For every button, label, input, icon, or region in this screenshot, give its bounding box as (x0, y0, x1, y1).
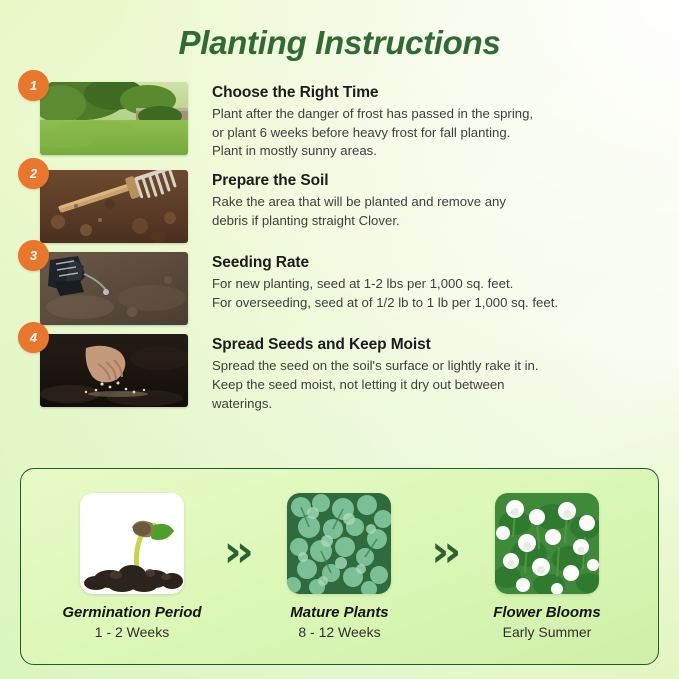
step-2-body: Rake the area that will be planted and r… (212, 193, 506, 230)
page-title: Planting Instructions (0, 24, 679, 62)
step-3-body: For new planting, seed at 1-2 lbs per 1,… (212, 275, 558, 312)
step-2-thumb-wrap: 2 (40, 170, 188, 243)
step-1-line-2: or plant 6 weeks before heavy frost for … (212, 124, 533, 143)
timeline-stage-blooms: Flower Blooms Early Summer (462, 493, 632, 640)
step-4-line-2: Keep the seed moist, not letting it dry … (212, 376, 539, 395)
step-item-3: 3 (0, 252, 679, 325)
sprouting-seedling-photo (80, 493, 184, 594)
step-2-line-1: Rake the area that will be planted and r… (212, 193, 506, 212)
step-3-line-1: For new planting, seed at 1-2 lbs per 1,… (212, 275, 558, 294)
stage-value-blooms: Early Summer (462, 624, 632, 640)
step-1-title: Choose the Right Time (212, 84, 533, 102)
step-number-badge-2: 2 (18, 158, 49, 189)
step-4-body: Spread the seed on the soil's surface or… (212, 357, 539, 413)
step-item-1: 1 (0, 82, 679, 161)
step-1-body: Plant after the danger of frost has pass… (212, 105, 533, 161)
clover-leaves-photo (287, 493, 391, 594)
step-3-text: Seeding Rate For new planting, seed at 1… (188, 252, 558, 312)
step-1-line-3: Plant in mostly sunny areas. (212, 142, 533, 161)
growth-timeline-panel: Germination Period 1 - 2 Weeks ›› (20, 468, 659, 665)
white-clover-flowers-photo (495, 493, 599, 594)
step-1-thumb-wrap: 1 (40, 82, 188, 155)
boot-on-tilled-soil-photo (40, 252, 188, 325)
timeline-stage-mature: Mature Plants 8 - 12 Weeks (254, 493, 424, 640)
step-1-text: Choose the Right Time Plant after the da… (188, 82, 533, 161)
infographic-background: Planting Instructions 1 (0, 0, 679, 679)
hand-sowing-seeds-photo (40, 334, 188, 407)
step-4-thumb-wrap: 4 (40, 334, 188, 407)
step-item-2: 2 (0, 170, 679, 243)
stage-label-germination: Germination Period (47, 604, 217, 621)
step-number-badge-4: 4 (18, 322, 49, 353)
stage-value-germination: 1 - 2 Weeks (47, 624, 217, 640)
step-2-title: Prepare the Soil (212, 172, 506, 190)
rake-on-soil-photo (40, 170, 188, 243)
step-number-badge-3: 3 (18, 240, 49, 271)
stage-value-mature: 8 - 12 Weeks (254, 624, 424, 640)
steps-list: 1 (0, 82, 679, 422)
step-4-line-1: Spread the seed on the soil's surface or… (212, 357, 539, 376)
stage-label-blooms: Flower Blooms (462, 604, 632, 621)
step-3-title: Seeding Rate (212, 254, 558, 272)
sunny-lawn-garden-photo (40, 82, 188, 155)
step-4-title: Spread Seeds and Keep Moist (212, 336, 539, 354)
timeline-stage-germination: Germination Period 1 - 2 Weeks (47, 493, 217, 640)
stage-label-mature: Mature Plants (254, 604, 424, 621)
step-4-line-3: waterings. (212, 395, 539, 414)
step-item-4: 4 (0, 334, 679, 413)
step-2-text: Prepare the Soil Rake the area that will… (188, 170, 506, 230)
step-2-line-2: debris if planting straight Clover. (212, 212, 506, 231)
chevron-double-right-icon-1: ›› (224, 530, 248, 574)
step-3-thumb-wrap: 3 (40, 252, 188, 325)
step-number-badge-1: 1 (18, 70, 49, 101)
step-1-line-1: Plant after the danger of frost has pass… (212, 105, 533, 124)
chevron-double-right-icon-2: ›› (431, 530, 455, 574)
step-3-line-2: For overseeding, seed at of 1/2 lb to 1 … (212, 294, 558, 313)
step-4-text: Spread Seeds and Keep Moist Spread the s… (188, 334, 539, 413)
